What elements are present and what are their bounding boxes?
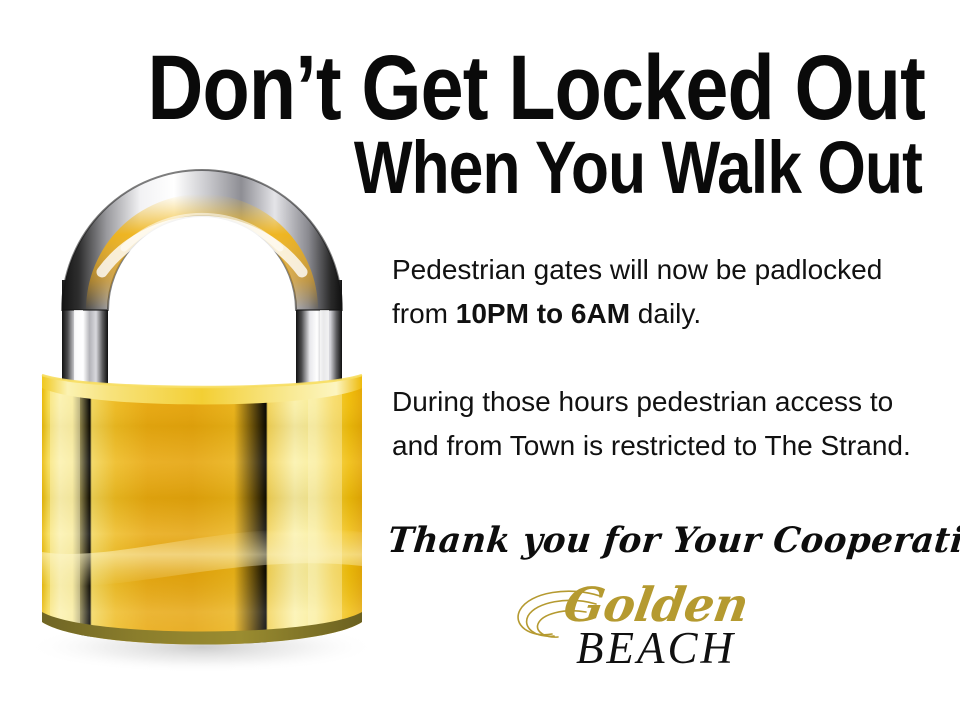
poster-canvas: Don’t Get Locked Out When You Walk Out P… [0, 0, 960, 720]
body-paragraph-1: Pedestrian gates will now be padlocked f… [392, 248, 932, 336]
headline-line-1: Don’t Get Locked Out [148, 42, 922, 134]
golden-beach-logo: Golden BEACH [500, 578, 800, 688]
body-copy: Pedestrian gates will now be padlocked f… [392, 248, 932, 468]
body-paragraph-1-suffix: daily. [630, 298, 701, 329]
padlock-body [28, 360, 376, 660]
body-paragraph-1-hours: 10PM to 6AM [456, 298, 630, 329]
logo-word-beach: BEACH [536, 622, 776, 674]
headline-line-2: When You Walk Out [148, 131, 922, 205]
body-paragraph-2: During those hours pedestrian access to … [392, 380, 932, 468]
thank-you-script: Thank you for Your Cooperation [386, 520, 914, 561]
paragraph-spacer [392, 336, 932, 380]
padlock-illustration [28, 160, 376, 680]
